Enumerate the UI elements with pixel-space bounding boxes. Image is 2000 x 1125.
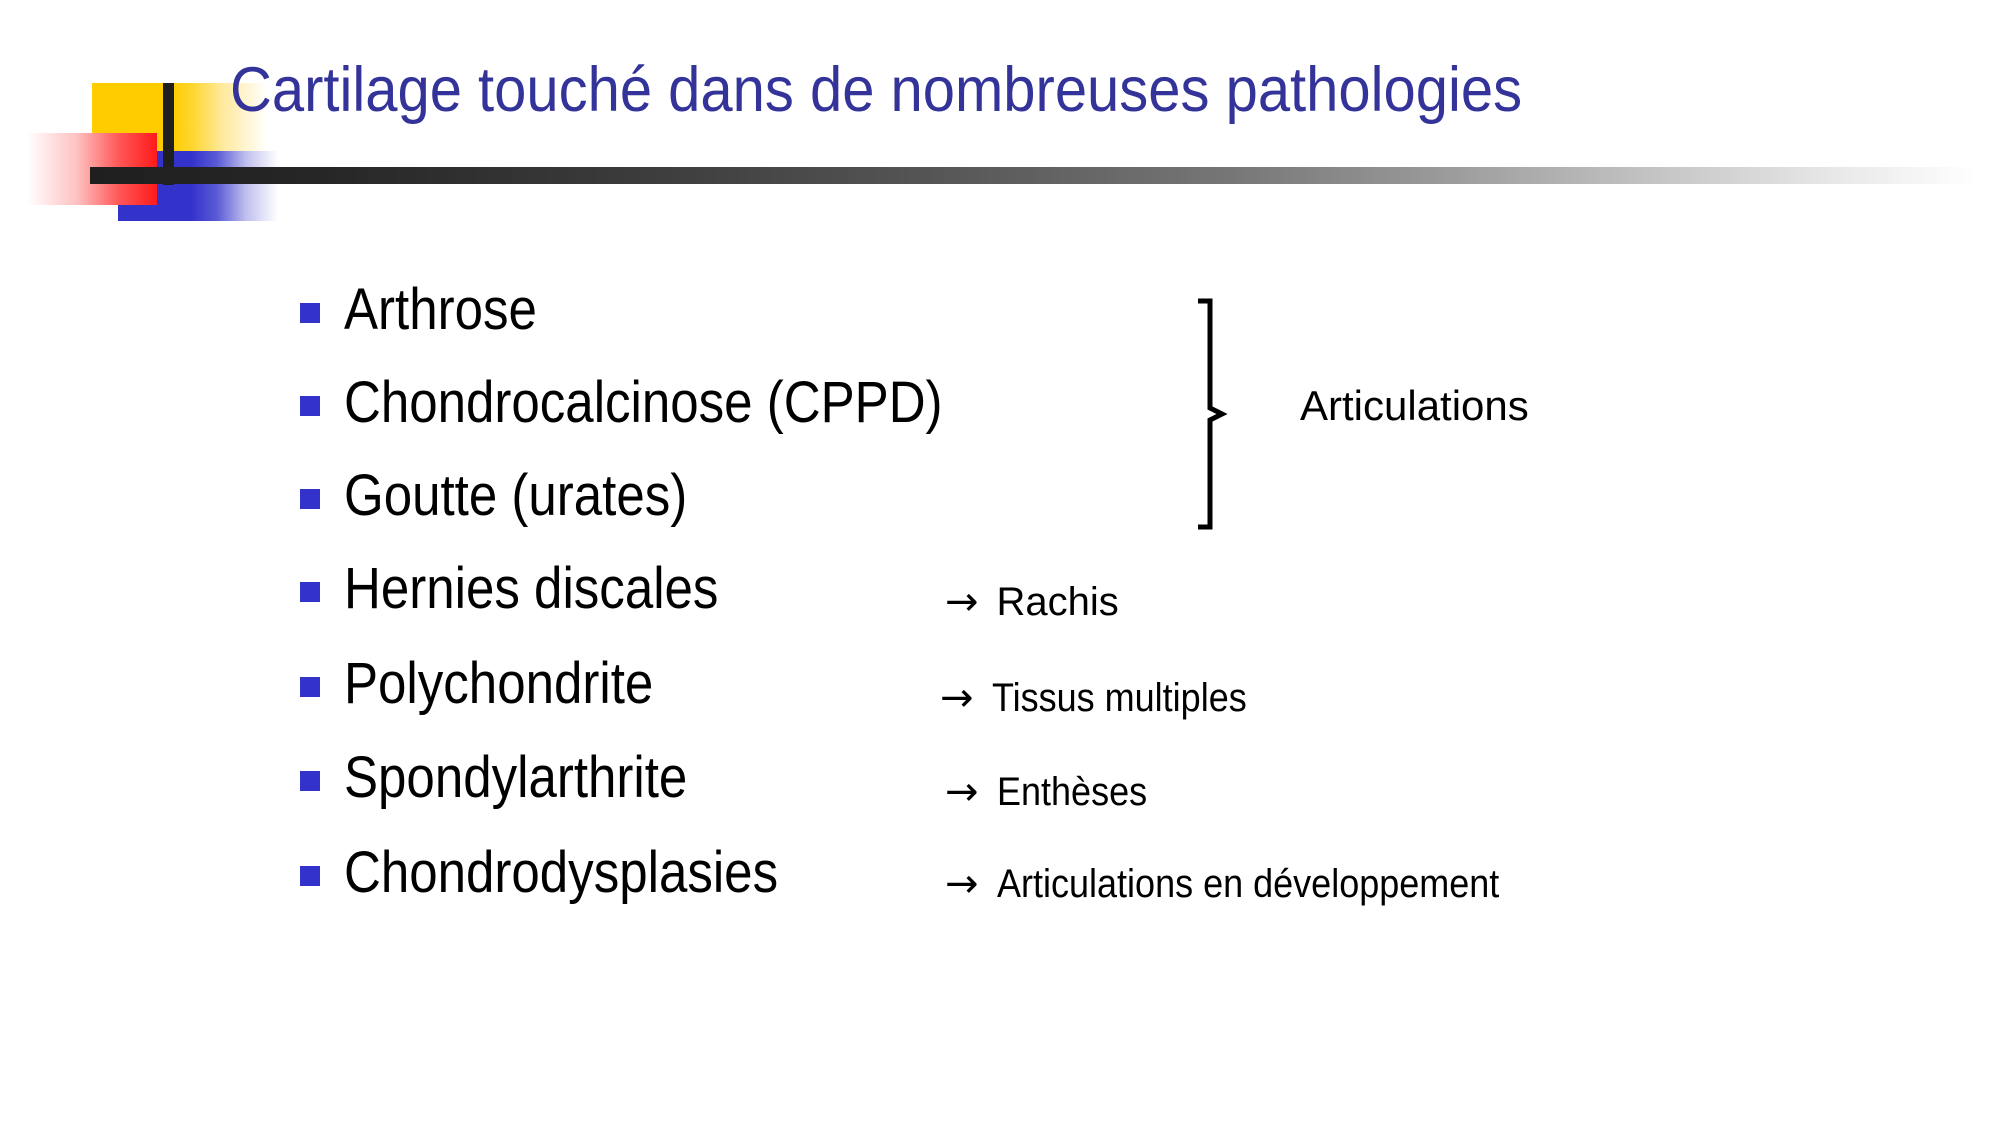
annotation-label: Tissus multiples	[992, 678, 1247, 718]
grouping-brace	[1196, 298, 1238, 530]
bullet-square-icon	[300, 771, 320, 791]
list-item-label: Arthrose	[344, 276, 537, 343]
list-item: Arthrose	[300, 262, 563, 357]
list-item-label: Hernies discales	[344, 555, 718, 622]
list-item-label: Chondrocalcinose (CPPD)	[344, 369, 943, 436]
list-item: Polychondrite	[300, 636, 695, 731]
annotation-label: Articulations en développement	[997, 864, 1499, 904]
bullet-square-icon	[300, 303, 320, 323]
list-item-label: Spondylarthrite	[344, 744, 687, 811]
annotation-tissus-multiples: → Tissus multiples	[940, 678, 1275, 718]
bullet-square-icon	[300, 582, 320, 602]
list-item-label: Polychondrite	[344, 650, 653, 717]
annotation-articulations-developpement: → Articulations en développement	[945, 864, 1555, 904]
annotation-label: Enthèses	[997, 772, 1147, 812]
arrow-right-icon: →	[945, 772, 979, 812]
arrow-right-icon: →	[940, 678, 974, 718]
bullet-square-icon	[300, 677, 320, 697]
list-item: Goutte (urates)	[300, 448, 734, 543]
bullet-square-icon	[300, 396, 320, 416]
list-item: Chondrodysplasies	[300, 825, 837, 920]
slide-content: Arthrose Chondrocalcinose (CPPD) Goutte …	[0, 0, 2000, 1125]
annotation-rachis: → Rachis	[945, 582, 1119, 622]
list-item-label: Goutte (urates)	[344, 462, 687, 529]
brace-group-label: Articulations	[1300, 385, 1529, 427]
bullet-square-icon	[300, 866, 320, 886]
list-item: Hernies discales	[300, 541, 770, 636]
arrow-right-icon: →	[945, 864, 979, 904]
list-item: Spondylarthrite	[300, 730, 734, 825]
list-item-label: Chondrodysplasies	[344, 839, 778, 906]
bullet-square-icon	[300, 489, 320, 509]
annotation-entheses: → Enthèses	[945, 772, 1163, 812]
arrow-right-icon: →	[945, 582, 979, 622]
annotation-label: Rachis	[997, 582, 1119, 622]
list-item: Chondrocalcinose (CPPD)	[300, 355, 1024, 450]
